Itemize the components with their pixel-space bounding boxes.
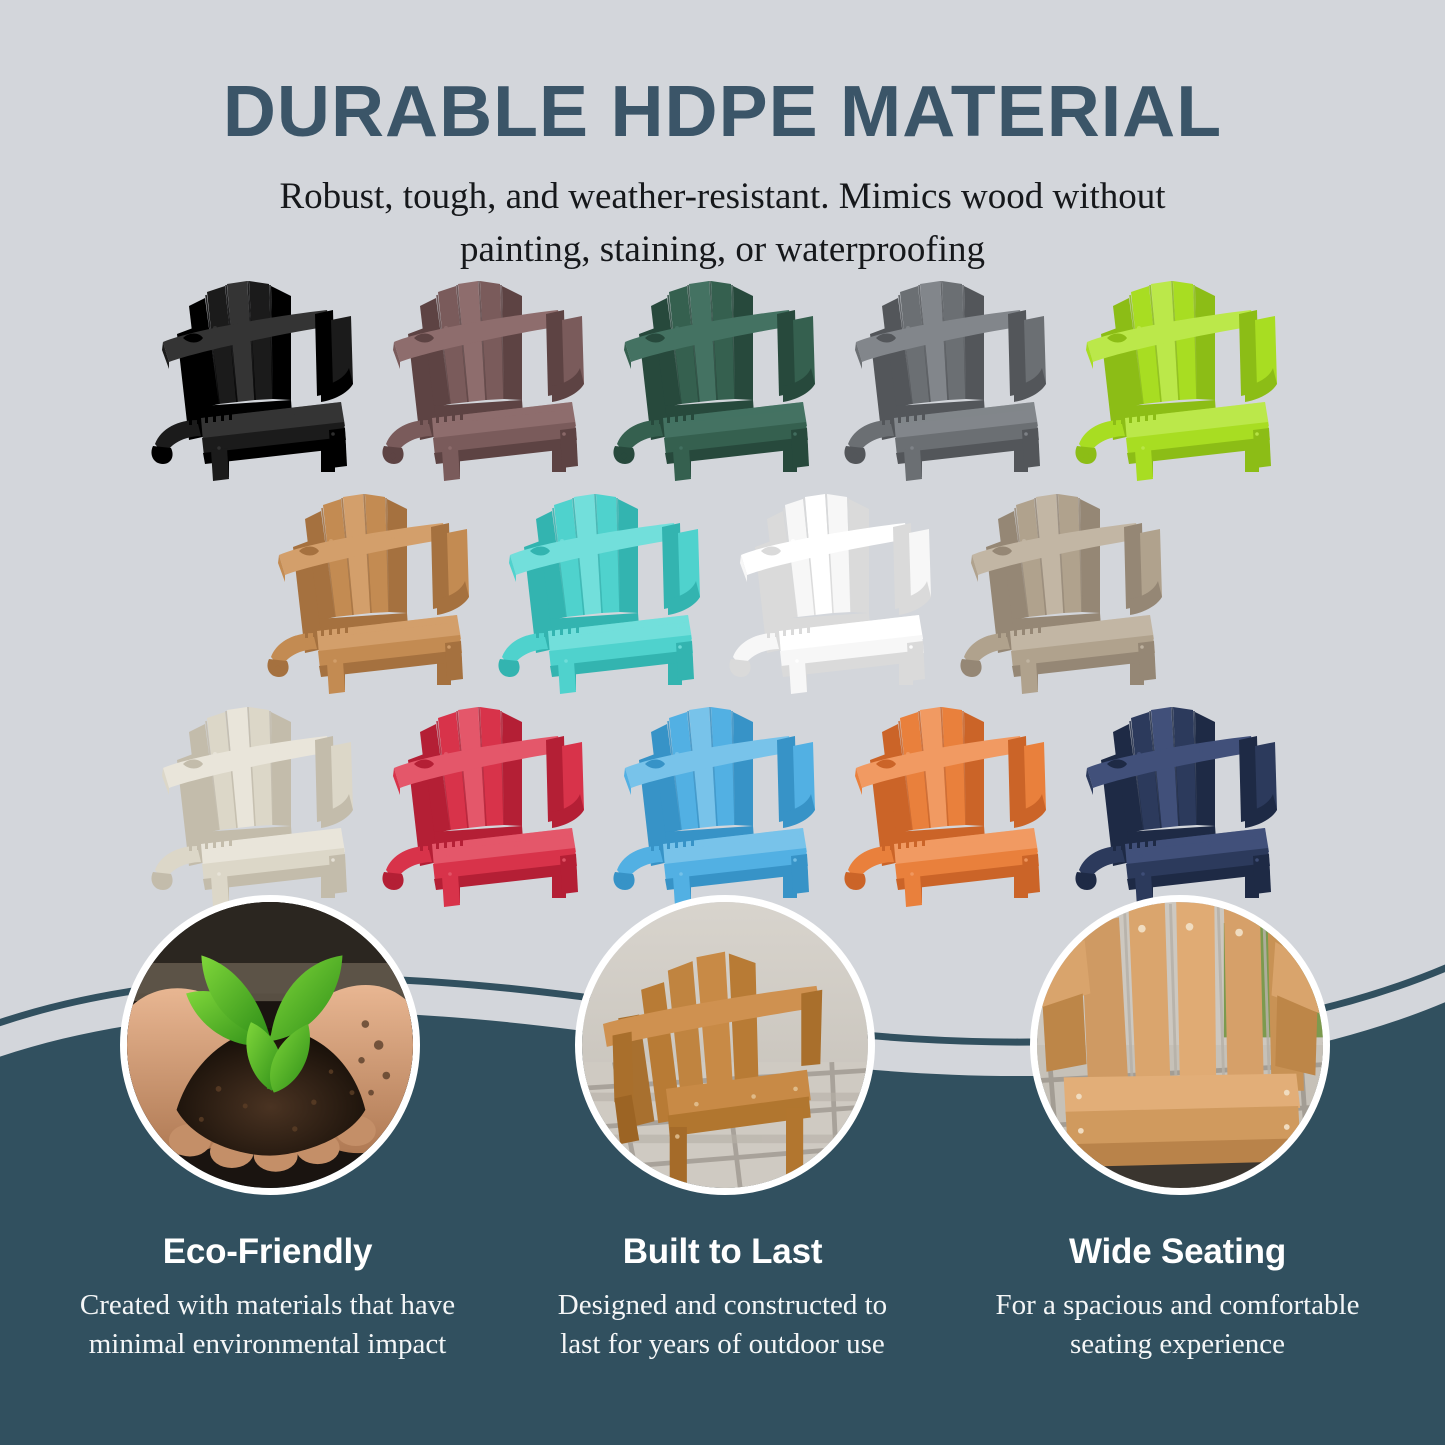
feature-photo-circles [0,890,1445,1230]
chair-swatch-lime-green[interactable] [1069,268,1300,481]
chair-brown [376,268,607,481]
feature-title: Built to Last [495,1232,950,1272]
chair-swatch-orange[interactable] [838,694,1069,907]
feature-wide-seating: Wide Seating For a spacious and comforta… [950,1232,1405,1363]
subtitle-line-1: Robust, tough, and weather-resistant. Mi… [223,171,1223,224]
chair-ivory [145,694,376,907]
chair-row-3 [0,694,1445,907]
page-title: DURABLE HDPE MATERIAL [0,0,1445,149]
chair-red [376,694,607,907]
chair-weathered-wood [954,481,1185,694]
chair-swatch-weathered-wood[interactable] [954,481,1185,694]
feature-description: For a spacious and comfortable seating e… [963,1286,1393,1363]
chair-row-2 [0,481,1445,694]
chair-lime-green [1069,268,1300,481]
chair-swatch-brown[interactable] [376,268,607,481]
chair-swatch-red[interactable] [376,694,607,907]
chair-orange [838,694,1069,907]
feature-desc-line-1: Created with materials that have [53,1286,483,1325]
feature-title: Wide Seating [950,1232,1405,1272]
feature-desc-line-2: seating experience [963,1325,1393,1364]
page-subtitle: Robust, tough, and weather-resistant. Mi… [223,171,1223,276]
eco-friendly-photo [120,895,420,1195]
chair-teak [261,481,492,694]
chair-row-1 [0,268,1445,481]
chair-swatch-ivory[interactable] [145,694,376,907]
feature-desc-line-2: minimal environmental impact [53,1325,483,1364]
chair-swatch-black[interactable] [145,268,376,481]
built-to-last-photo [575,895,875,1195]
feature-desc-line-1: Designed and constructed to [508,1286,938,1325]
chair-swatch-gray[interactable] [838,268,1069,481]
feature-title: Eco-Friendly [40,1232,495,1272]
chair-color-grid [0,268,1445,928]
chair-black [145,268,376,481]
chair-swatch-dark-green[interactable] [607,268,838,481]
feature-list: Eco-Friendly Created with materials that… [0,1232,1445,1363]
chair-light-blue [607,694,838,907]
chair-turquoise [492,481,723,694]
chair-swatch-light-blue[interactable] [607,694,838,907]
feature-description: Created with materials that have minimal… [53,1286,483,1363]
header: DURABLE HDPE MATERIAL Robust, tough, and… [0,0,1445,277]
wide-seating-photo [1030,895,1330,1195]
infographic-canvas: DURABLE HDPE MATERIAL Robust, tough, and… [0,0,1445,1445]
chair-gray [838,268,1069,481]
chair-dark-green [607,268,838,481]
feature-eco-friendly: Eco-Friendly Created with materials that… [40,1232,495,1363]
chair-swatch-navy-blue[interactable] [1069,694,1300,907]
chair-navy-blue [1069,694,1300,907]
feature-description: Designed and constructed to last for yea… [508,1286,938,1363]
chair-swatch-turquoise[interactable] [492,481,723,694]
feature-built-to-last: Built to Last Designed and constructed t… [495,1232,950,1363]
feature-desc-line-1: For a spacious and comfortable [963,1286,1393,1325]
chair-white [723,481,954,694]
feature-desc-line-2: last for years of outdoor use [508,1325,938,1364]
chair-swatch-white[interactable] [723,481,954,694]
chair-swatch-teak[interactable] [261,481,492,694]
